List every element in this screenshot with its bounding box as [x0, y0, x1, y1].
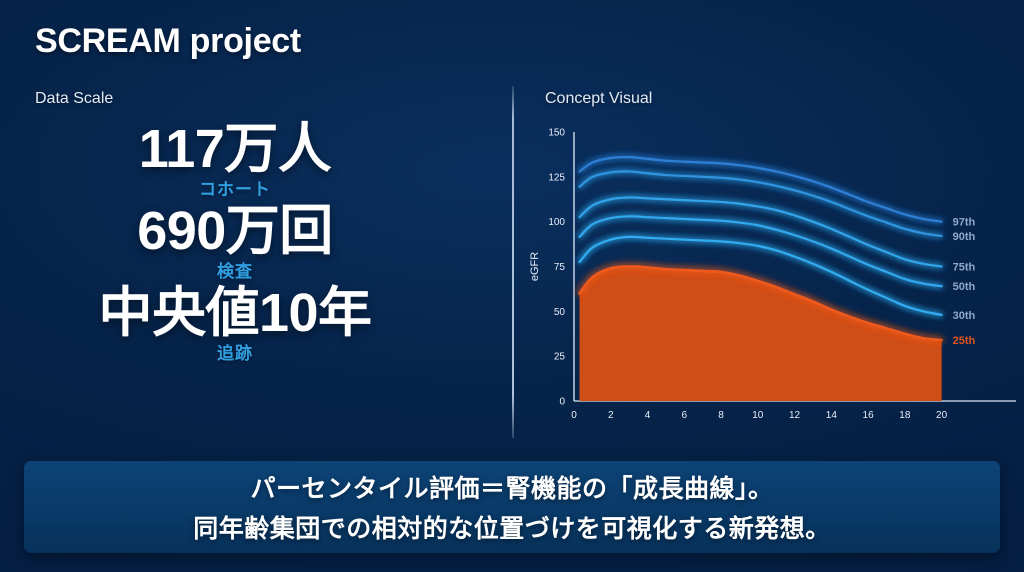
- x-tick-label: 16: [863, 410, 875, 421]
- y-tick-label: 75: [554, 262, 566, 273]
- x-tick-label: 0: [571, 410, 577, 421]
- y-tick-label: 50: [554, 307, 566, 318]
- chart-series-97th: [580, 157, 942, 222]
- caption-line: パーセンタイル評価＝腎機能の「成長曲線」。: [250, 469, 773, 505]
- x-tick-label: 18: [899, 410, 911, 421]
- x-tick-label: 6: [682, 410, 688, 421]
- data-scale-panel: Data Scale 117万人コホート690万回検査中央値10年追跡: [0, 80, 500, 440]
- stat-label: 追跡: [0, 339, 470, 364]
- y-tick-label: 100: [548, 217, 565, 228]
- slide-root: SCREAM project Data Scale 117万人コホート690万回…: [0, 0, 1024, 572]
- x-tick-label: 14: [826, 410, 838, 421]
- chart-series-25th: [580, 266, 942, 401]
- series-label-30th: 30th: [953, 310, 976, 322]
- series-label-50th: 50th: [953, 281, 976, 293]
- stat-value: 117万人: [0, 122, 470, 177]
- y-tick-label: 0: [559, 397, 565, 408]
- series-label-90th: 90th: [953, 231, 976, 243]
- concept-visual-heading: Concept Visual: [545, 90, 652, 108]
- stat-value: 中央値10年: [0, 286, 470, 341]
- stat-label: コホート: [0, 175, 470, 200]
- x-tick-label: 12: [789, 410, 801, 421]
- caption-line: 同年齢集団での相対的な位置づけを可視化する新発想。: [193, 509, 831, 545]
- page-title: SCREAM project: [35, 22, 301, 61]
- stat-block: 117万人コホート: [0, 122, 470, 200]
- caption-band: パーセンタイル評価＝腎機能の「成長曲線」。同年齢集団での相対的な位置づけを可視化…: [24, 461, 1000, 553]
- y-axis-title: eGFR: [529, 252, 541, 281]
- series-label-25th: 25th: [953, 335, 976, 347]
- stat-label: 検査: [0, 257, 470, 282]
- x-tick-label: 10: [752, 410, 764, 421]
- stat-value: 690万回: [0, 204, 470, 259]
- x-tick-label: 4: [645, 410, 651, 421]
- x-tick-label: 2: [608, 410, 614, 421]
- x-tick-label: 20: [936, 410, 948, 421]
- y-tick-label: 150: [548, 128, 565, 139]
- y-tick-label: 125: [548, 172, 565, 183]
- stat-block: 690万回検査: [0, 204, 470, 282]
- chart-svg: 0255075100125150eGFR0246810121416182097t…: [522, 118, 1022, 433]
- data-scale-heading: Data Scale: [35, 90, 113, 108]
- stat-block: 中央値10年追跡: [0, 286, 470, 364]
- x-tick-label: 8: [718, 410, 724, 421]
- series-label-75th: 75th: [953, 262, 976, 274]
- series-label-97th: 97th: [953, 217, 976, 229]
- concept-visual-panel: Concept Visual 0255075100125150eGFR02468…: [512, 80, 1024, 440]
- stats-list: 117万人コホート690万回検査中央値10年追跡: [0, 122, 470, 368]
- y-tick-label: 25: [554, 352, 566, 363]
- egfr-percentile-chart: 0255075100125150eGFR0246810121416182097t…: [522, 118, 1022, 433]
